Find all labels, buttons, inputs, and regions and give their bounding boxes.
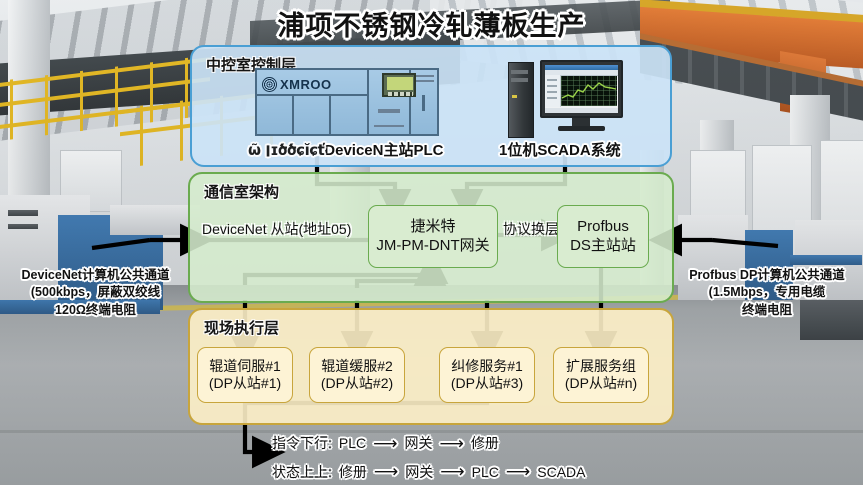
field-node-1-line2: (DP从站#1) xyxy=(209,375,281,392)
dataflow-legend: 指令下行: PLC ⟶ 网关 ⟶ 修册 状态上上: 修册 ⟶ 网关 ⟶ PLC … xyxy=(272,430,585,485)
field-node-4[interactable]: 扩展服务组 (DP从站#n) xyxy=(553,347,649,403)
field-node-4-line1: 扩展服务组 xyxy=(566,358,636,375)
page-title: 浦项不锈钢冷轧薄板生产 xyxy=(0,4,863,43)
devicenet-slave-label: DeviceNet 从站(地址05) xyxy=(202,219,351,239)
right-anno-line2: (1.5Mbps，专用电缆 xyxy=(673,284,861,301)
left-anno-line2: (500kbps，屏蔽双绞线 xyxy=(3,284,188,301)
layer-title-comm: 通信室架构 xyxy=(204,181,279,202)
gateway-node[interactable]: 捷米特 JM-PM-DNT网关 xyxy=(368,205,498,268)
trend-chart-icon xyxy=(561,76,617,106)
gateway-line2: JM-PM-DNT网关 xyxy=(376,237,489,255)
field-node-3-line1: 纠修服务#1 xyxy=(451,358,523,375)
field-node-3[interactable]: 纠修服务#1 (DP从站#3) xyxy=(439,347,535,403)
right-anno-line3: 终端电阻 xyxy=(673,302,861,319)
profbus-master-node[interactable]: Profbus DS主站站 xyxy=(557,205,649,268)
field-node-4-line2: (DP从站#n) xyxy=(565,375,637,392)
field-node-2-line2: (DP从站#2) xyxy=(321,375,393,392)
arrow-icon: ⟶ xyxy=(440,430,464,458)
scada-monitor-icon xyxy=(540,60,623,118)
spiral-logo-icon xyxy=(262,77,277,92)
downlink-step-2: 网关 xyxy=(405,432,433,455)
gateway-line1: 捷米特 xyxy=(410,218,455,236)
arrow-icon: ⟶ xyxy=(440,458,464,485)
master-line1: Profbus xyxy=(577,218,629,236)
field-node-2-line1: 辊道缓服#2 xyxy=(321,358,393,375)
left-anno-line1: DeviceNet计算机公共通道 xyxy=(3,267,188,284)
plc-brand-text: XMROO xyxy=(280,77,332,92)
field-node-1[interactable]: 辊道伺服#1 (DP从站#1) xyxy=(197,347,293,403)
plc-caption: ῶ ׀ɪծծɕĭɕťDeviceN主站PLC xyxy=(248,139,443,160)
plc-brand-logo: XMROO xyxy=(262,74,370,95)
uplink-step-4: SCADA xyxy=(537,461,585,484)
downlink-step-3: 修册 xyxy=(471,432,499,455)
right-bus-annotation: Profbus DP计算机公共通道 (1.5Mbps，专用电缆 终端电阻 xyxy=(673,267,861,319)
uplink-step-1: 修册 xyxy=(339,461,367,484)
downlink-label: 指令下行: xyxy=(272,432,332,455)
field-node-2[interactable]: 辊道缓服#2 (DP从站#2) xyxy=(309,347,405,403)
left-anno-line3: 120Ω终端电阻 xyxy=(3,302,188,319)
arrow-icon: ⟶ xyxy=(373,430,397,458)
uplink-step-3: PLC xyxy=(472,461,499,484)
uplink-step-2: 网关 xyxy=(405,461,433,484)
legend-uplink-row: 状态上上: 修册 ⟶ 网关 ⟶ PLC ⟶ SCADA xyxy=(272,458,585,485)
master-line2: DS主站站 xyxy=(570,237,636,255)
downlink-step-1: PLC xyxy=(339,432,366,455)
hmi-panel-icon xyxy=(382,73,416,97)
scada-caption: 1位机SCADA系统 xyxy=(499,139,621,160)
protocol-conversion-label: 协议换层 xyxy=(503,219,559,239)
plc-caption-text: DeviceN主站PLC xyxy=(324,142,443,159)
right-anno-line1: Profbus DP计算机公共通道 xyxy=(673,267,861,284)
field-node-3-line2: (DP从站#3) xyxy=(451,375,523,392)
plc-caption-glyphs: ῶ ׀ɪծծɕĭɕť xyxy=(248,141,324,159)
diagram-canvas: 浦项不锈钢冷轧薄板生产 xyxy=(0,0,863,485)
layer-title-field: 现场执行层 xyxy=(204,317,279,338)
arrow-icon: ⟶ xyxy=(374,458,398,485)
legend-downlink-row: 指令下行: PLC ⟶ 网关 ⟶ 修册 xyxy=(272,430,585,458)
arrow-icon: ⟶ xyxy=(506,458,530,485)
field-node-1-line1: 辊道伺服#1 xyxy=(209,358,281,375)
uplink-label: 状态上上: xyxy=(272,461,332,484)
left-bus-annotation: DeviceNet计算机公共通道 (500kbps，屏蔽双绞线 120Ω终端电阻 xyxy=(3,267,188,319)
